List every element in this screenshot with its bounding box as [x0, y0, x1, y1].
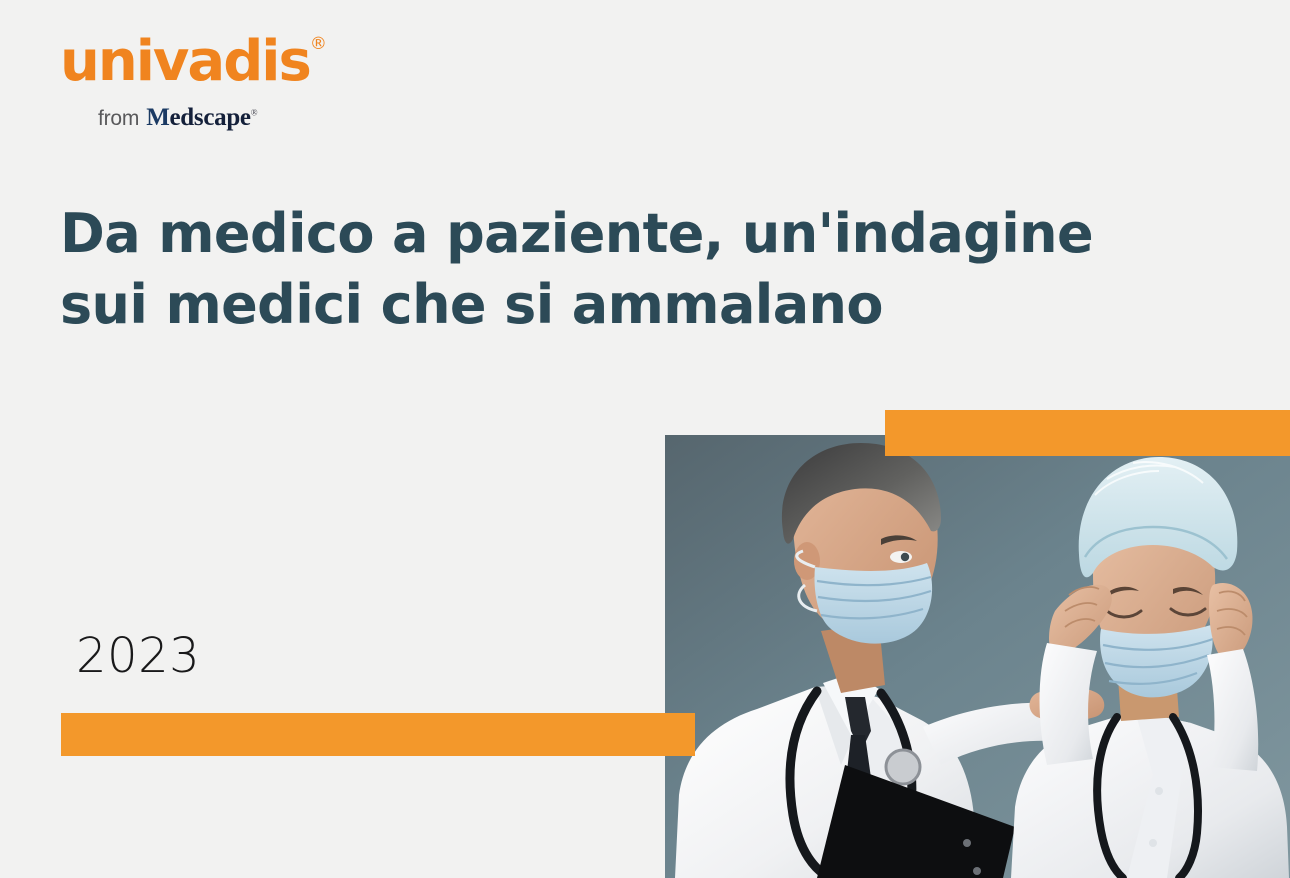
medscape-initial: M: [146, 104, 169, 131]
accent-bar-top: [885, 410, 1290, 456]
univadis-wordmark: univadis ®: [60, 34, 310, 90]
logo-tagline-from: from: [98, 107, 139, 131]
logo-tagline: from Medscape®: [98, 104, 380, 132]
medscape-registered-icon: ®: [251, 108, 258, 118]
clipboard-clip-upper: [963, 839, 971, 847]
univadis-logo: univadis ® from Medscape®: [60, 34, 380, 132]
cover-photo: [665, 435, 1290, 878]
logo-tagline-medscape: Medscape®: [146, 104, 257, 132]
male-iris: [901, 553, 909, 561]
univadis-wordmark-text: univadis: [60, 29, 310, 94]
medscape-rest: edscape: [170, 104, 251, 131]
accent-bar-bottom: [61, 713, 695, 756]
registered-trademark-icon: ®: [310, 36, 327, 53]
report-cover: univadis ® from Medscape® Da medico a pa…: [0, 0, 1290, 878]
report-year: 2023: [76, 632, 200, 680]
male-stethoscope-chestpiece: [886, 750, 920, 784]
female-coat-button-1: [1155, 787, 1163, 795]
page-title: Da medico a paziente, un'indagine sui me…: [60, 198, 1180, 341]
clipboard-clip-lower: [973, 867, 981, 875]
cover-photo-illustration: [665, 435, 1290, 878]
female-coat-button-2: [1149, 839, 1157, 847]
